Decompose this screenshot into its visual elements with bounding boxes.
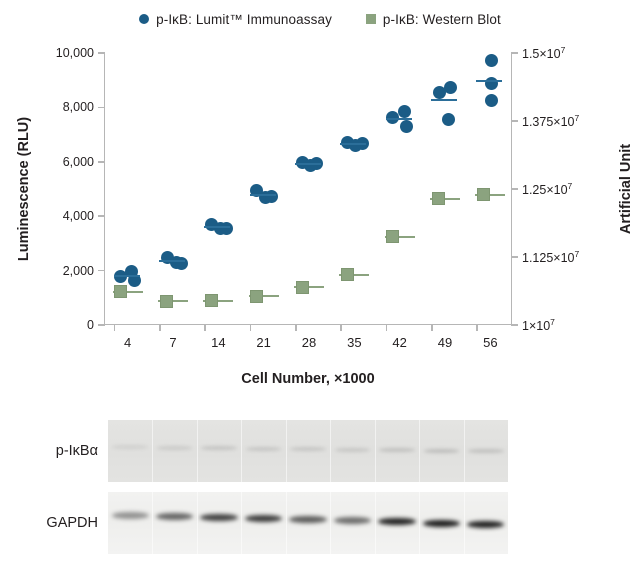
plot-area: 02,0004,0006,0008,00010,000 1×1071.125×1… xyxy=(104,53,512,325)
x-tick-label: 4 xyxy=(124,335,131,350)
x-tick xyxy=(159,324,161,331)
data-point-western-blot xyxy=(341,268,354,281)
x-tick-label: 28 xyxy=(302,335,316,350)
y-tick-right xyxy=(511,120,518,122)
y-tick-label-left: 10,000 xyxy=(56,46,94,60)
data-point-western-blot xyxy=(386,230,399,243)
blot-band xyxy=(200,514,237,521)
legend-entry-lumit: p-IκB: Lumit™ Immunoassay xyxy=(139,12,332,27)
blot-band xyxy=(245,515,282,522)
blot-band xyxy=(334,517,371,524)
data-point-lumit xyxy=(400,120,413,133)
y-axis-title-left: Luminescence (RLU) xyxy=(14,53,34,325)
legend-label-western-blot: p-IκB: Western Blot xyxy=(383,12,501,27)
blot-lane-seam xyxy=(286,492,287,554)
data-point-western-blot xyxy=(477,188,490,201)
data-point-lumit xyxy=(485,54,498,67)
y-tick-label-left: 6,000 xyxy=(63,155,94,169)
blot-band xyxy=(156,513,193,520)
data-point-lumit xyxy=(265,190,278,203)
data-point-lumit xyxy=(220,222,233,235)
y-tick-label-left: 4,000 xyxy=(63,209,94,223)
y-tick-left xyxy=(98,52,105,54)
blot-band xyxy=(112,512,149,519)
y-tick-label-left: 8,000 xyxy=(63,100,94,114)
mean-line-lumit xyxy=(114,275,140,277)
y-axis-title-right: Artificial Unit xyxy=(616,53,636,325)
mean-line-lumit xyxy=(295,163,321,165)
y-tick-label-right: 1.125×107 xyxy=(522,249,579,265)
blot-lane-seam xyxy=(330,492,331,554)
blot-band xyxy=(424,449,460,453)
x-tick-label: 56 xyxy=(483,335,497,350)
blot-bands-pikba xyxy=(108,420,508,482)
data-point-lumit xyxy=(398,105,411,118)
blot-label-pikba: p-IκBα xyxy=(0,420,98,482)
blot-band xyxy=(201,446,237,450)
data-point-western-blot xyxy=(114,285,127,298)
blot-lane-seam xyxy=(152,492,153,554)
x-tick-label: 35 xyxy=(347,335,361,350)
y-tick-right xyxy=(511,52,518,54)
blot-band xyxy=(467,521,504,528)
figure-root: p-IκB: Lumit™ Immunoassay p-IκB: Western… xyxy=(0,0,640,570)
blot-lane-seam xyxy=(197,492,198,554)
x-tick xyxy=(340,324,342,331)
mean-line-lumit xyxy=(386,118,412,120)
data-point-western-blot xyxy=(205,294,218,307)
legend-label-lumit: p-IκB: Lumit™ Immunoassay xyxy=(156,12,332,27)
blot-panel-pikba xyxy=(108,420,508,482)
x-tick xyxy=(250,324,252,331)
blot-lane-seam xyxy=(464,420,465,482)
x-tick xyxy=(114,324,116,331)
y-axis-title-left-text: Luminescence (RLU) xyxy=(16,117,32,261)
chart-legend: p-IκB: Lumit™ Immunoassay p-IκB: Western… xyxy=(0,6,640,32)
blot-lane-seam xyxy=(419,492,420,554)
y-tick-left xyxy=(98,324,105,326)
x-tick xyxy=(295,324,297,331)
blot-label-gapdh: GAPDH xyxy=(0,492,98,554)
data-point-western-blot xyxy=(296,281,309,294)
blot-lane-seam xyxy=(419,420,420,482)
x-tick xyxy=(204,324,206,331)
data-point-western-blot xyxy=(432,192,445,205)
blot-row-pikba: p-IκBα xyxy=(0,420,640,482)
blot-band xyxy=(246,447,282,451)
y-tick-left xyxy=(98,161,105,163)
blot-lane-seam xyxy=(241,492,242,554)
x-tick-label: 21 xyxy=(256,335,270,350)
x-tick xyxy=(476,324,478,331)
data-point-lumit xyxy=(485,77,498,90)
y-tick-right xyxy=(511,324,518,326)
data-point-western-blot xyxy=(250,290,263,303)
y-tick-label-right: 1.375×107 xyxy=(522,113,579,129)
blot-lane-seam xyxy=(464,492,465,554)
x-tick xyxy=(386,324,388,331)
blot-band xyxy=(157,446,193,450)
blot-band xyxy=(378,518,415,525)
circle-marker-icon xyxy=(139,14,149,24)
blot-band xyxy=(468,449,504,453)
data-point-lumit xyxy=(444,81,457,94)
x-tick-label: 7 xyxy=(169,335,176,350)
blot-lane-seam xyxy=(197,420,198,482)
x-tick-label: 14 xyxy=(211,335,225,350)
blot-bands-gapdh xyxy=(108,492,508,554)
y-tick-right xyxy=(511,256,518,258)
blot-band xyxy=(423,520,460,527)
blot-panel-gapdh xyxy=(108,492,508,554)
y-tick-label-left: 2,000 xyxy=(63,264,94,278)
legend-entry-western-blot: p-IκB: Western Blot xyxy=(366,12,501,27)
y-tick-left xyxy=(98,215,105,217)
blot-band xyxy=(379,448,415,452)
data-points-layer xyxy=(105,53,511,324)
blot-lane-seam xyxy=(375,492,376,554)
y-tick-left xyxy=(98,270,105,272)
mean-line-lumit xyxy=(159,260,185,262)
mean-line-lumit xyxy=(476,80,502,82)
blot-lane-seam xyxy=(152,420,153,482)
data-point-lumit xyxy=(175,257,188,270)
mean-line-lumit xyxy=(340,143,366,145)
blot-band xyxy=(290,447,326,451)
blot-band xyxy=(112,445,148,449)
blot-lane-seam xyxy=(241,420,242,482)
blot-lane-seam xyxy=(375,420,376,482)
y-tick-left xyxy=(98,107,105,109)
blot-lane-seam xyxy=(286,420,287,482)
y-axis-title-right-text: Artificial Unit xyxy=(618,144,634,234)
data-point-lumit xyxy=(442,113,455,126)
mean-line-lumit xyxy=(250,194,276,196)
x-axis-title: Cell Number, ×1000 xyxy=(104,371,512,387)
blot-band xyxy=(335,448,371,452)
y-tick-label-right: 1.25×107 xyxy=(522,181,572,197)
x-tick xyxy=(431,324,433,331)
y-tick-label-right: 1×107 xyxy=(522,317,555,333)
square-marker-icon xyxy=(366,14,376,24)
mean-line-lumit xyxy=(204,226,230,228)
x-tick-label: 49 xyxy=(438,335,452,350)
mean-line-lumit xyxy=(431,99,457,101)
data-point-lumit xyxy=(485,94,498,107)
data-point-western-blot xyxy=(160,295,173,308)
blot-band xyxy=(289,516,326,523)
y-tick-label-left: 0 xyxy=(87,318,94,332)
x-tick-label: 42 xyxy=(392,335,406,350)
y-tick-label-right: 1.5×107 xyxy=(522,45,565,61)
blot-row-gapdh: GAPDH xyxy=(0,492,640,554)
blot-lane-seam xyxy=(330,420,331,482)
y-tick-right xyxy=(511,188,518,190)
